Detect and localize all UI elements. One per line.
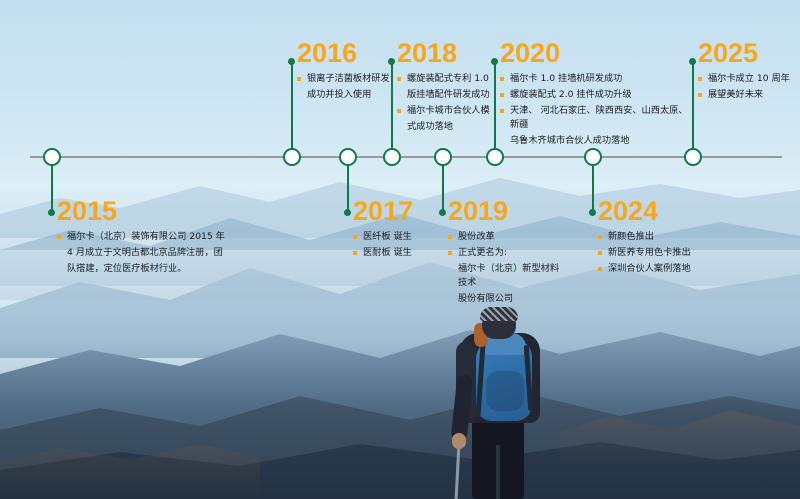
list-item: 队搭建，定位医疗板材行业。 <box>57 262 237 276</box>
timeline-stem-dot-2020 <box>491 58 498 65</box>
timeline-stem-2015 <box>51 166 53 212</box>
list-item: 福尔卡（北京）新型材料技术 <box>448 262 568 290</box>
milestone-2025: 2025 福尔卡成立 10 周年 展望美好未来 <box>698 38 800 104</box>
list-item: 展望美好未来 <box>698 88 800 102</box>
milestone-2020: 2020 福尔卡 1.0 挂墙机研发成功 螺旋装配式 2.0 挂件成功升级 天津… <box>500 38 690 150</box>
list-item: 式成功落地 <box>397 120 497 134</box>
timeline-axis <box>30 156 782 158</box>
list-item: 螺旋装配式专利 1.0 <box>397 72 497 86</box>
milestone-2015: 2015 福尔卡（北京）装饰有限公司 2015 年 4 月成立于文明古都北京品牌… <box>57 196 237 278</box>
list-item: 福尔卡（北京）装饰有限公司 2015 年 <box>57 230 237 244</box>
milestone-year-2025: 2025 <box>698 38 800 68</box>
timeline-stem-2020 <box>494 62 496 150</box>
timeline-node-2024[interactable] <box>584 148 602 166</box>
timeline-stem-dot-2025 <box>689 58 696 65</box>
hiker-figure <box>430 305 580 499</box>
list-item: 医纤板 诞生 <box>353 230 443 244</box>
list-item: 新医养专用色卡推出 <box>598 246 728 260</box>
list-item: 深圳合伙人案例落地 <box>598 262 728 276</box>
list-item: 股份改革 <box>448 230 568 244</box>
milestone-year-2016: 2016 <box>297 38 393 68</box>
milestone-items-2017: 医纤板 诞生 医耐板 诞生 <box>353 230 443 260</box>
milestone-2018: 2018 螺旋装配式专利 1.0 版挂墙配件研发成功 福尔卡城市合伙人模 式成功… <box>397 38 497 136</box>
milestone-items-2020: 福尔卡 1.0 挂墙机研发成功 螺旋装配式 2.0 挂件成功升级 天津、 河北石… <box>500 72 690 148</box>
timeline-node-2025[interactable] <box>684 148 702 166</box>
list-item: 新颜色推出 <box>598 230 728 244</box>
timeline-stem-dot-2016 <box>288 58 295 65</box>
timeline-node-2019[interactable] <box>434 148 452 166</box>
timeline-node-2020[interactable] <box>486 148 504 166</box>
list-item: 医耐板 诞生 <box>353 246 443 260</box>
timeline-stem-dot-2019 <box>439 209 446 216</box>
timeline-node-2016[interactable] <box>283 148 301 166</box>
timeline-stem-dot-2015 <box>48 209 55 216</box>
timeline-node-2017[interactable] <box>339 148 357 166</box>
milestone-year-2015: 2015 <box>57 196 237 226</box>
timeline-stem-dot-2024 <box>589 209 596 216</box>
list-item: 4 月成立于文明古都北京品牌注册，团 <box>57 246 237 260</box>
bandana <box>480 307 518 321</box>
timeline-stem-2017 <box>347 166 349 212</box>
milestone-items-2024: 新颜色推出 新医养专用色卡推出 深圳合伙人案例落地 <box>598 230 728 276</box>
list-item: 正式更名为: <box>448 246 568 260</box>
list-item: 乌鲁木齐城市合伙人成功落地 <box>500 134 690 148</box>
milestone-2024: 2024 新颜色推出 新医养专用色卡推出 深圳合伙人案例落地 <box>598 196 728 278</box>
timeline-stem-2018 <box>391 62 393 150</box>
timeline-stem-dot-2018 <box>388 58 395 65</box>
milestone-items-2025: 福尔卡成立 10 周年 展望美好未来 <box>698 72 800 102</box>
milestone-year-2024: 2024 <box>598 196 728 226</box>
milestone-items-2016: 银离子洁菌板材研发 成功并投入使用 <box>297 72 393 102</box>
list-item: 福尔卡 1.0 挂墙机研发成功 <box>500 72 690 86</box>
milestone-year-2017: 2017 <box>353 196 443 226</box>
timeline-infographic: 2015 福尔卡（北京）装饰有限公司 2015 年 4 月成立于文明古都北京品牌… <box>0 0 800 499</box>
foreground-shadow <box>0 340 800 499</box>
milestone-year-2019: 2019 <box>448 196 568 226</box>
list-item: 福尔卡城市合伙人模 <box>397 104 497 118</box>
list-item: 银离子洁菌板材研发 <box>297 72 393 86</box>
timeline-stem-2016 <box>291 62 293 150</box>
milestone-items-2019: 股份改革 正式更名为: 福尔卡（北京）新型材料技术 股份有限公司 <box>448 230 568 306</box>
milestone-2016: 2016 银离子洁菌板材研发 成功并投入使用 <box>297 38 393 104</box>
list-item: 股份有限公司 <box>448 292 568 306</box>
milestone-year-2018: 2018 <box>397 38 497 68</box>
milestone-2017: 2017 医纤板 诞生 医耐板 诞生 <box>353 196 443 262</box>
milestone-2019: 2019 股份改革 正式更名为: 福尔卡（北京）新型材料技术 股份有限公司 <box>448 196 568 308</box>
timeline-stem-2024 <box>592 166 594 212</box>
timeline-node-2018[interactable] <box>383 148 401 166</box>
milestone-items-2015: 福尔卡（北京）装饰有限公司 2015 年 4 月成立于文明古都北京品牌注册，团 … <box>57 230 237 276</box>
timeline-node-2015[interactable] <box>43 148 61 166</box>
list-item: 螺旋装配式 2.0 挂件成功升级 <box>500 88 690 102</box>
milestone-items-2018: 螺旋装配式专利 1.0 版挂墙配件研发成功 福尔卡城市合伙人模 式成功落地 <box>397 72 497 134</box>
list-item: 福尔卡成立 10 周年 <box>698 72 800 86</box>
milestone-year-2020: 2020 <box>500 38 690 68</box>
list-item: 版挂墙配件研发成功 <box>397 88 497 102</box>
timeline-stem-2019 <box>442 166 444 212</box>
timeline-stem-dot-2017 <box>344 209 351 216</box>
list-item: 成功并投入使用 <box>297 88 393 102</box>
list-item: 天津、 河北石家庄、陕西西安、山西太原、新疆 <box>500 104 690 132</box>
timeline-stem-2025 <box>692 62 694 150</box>
